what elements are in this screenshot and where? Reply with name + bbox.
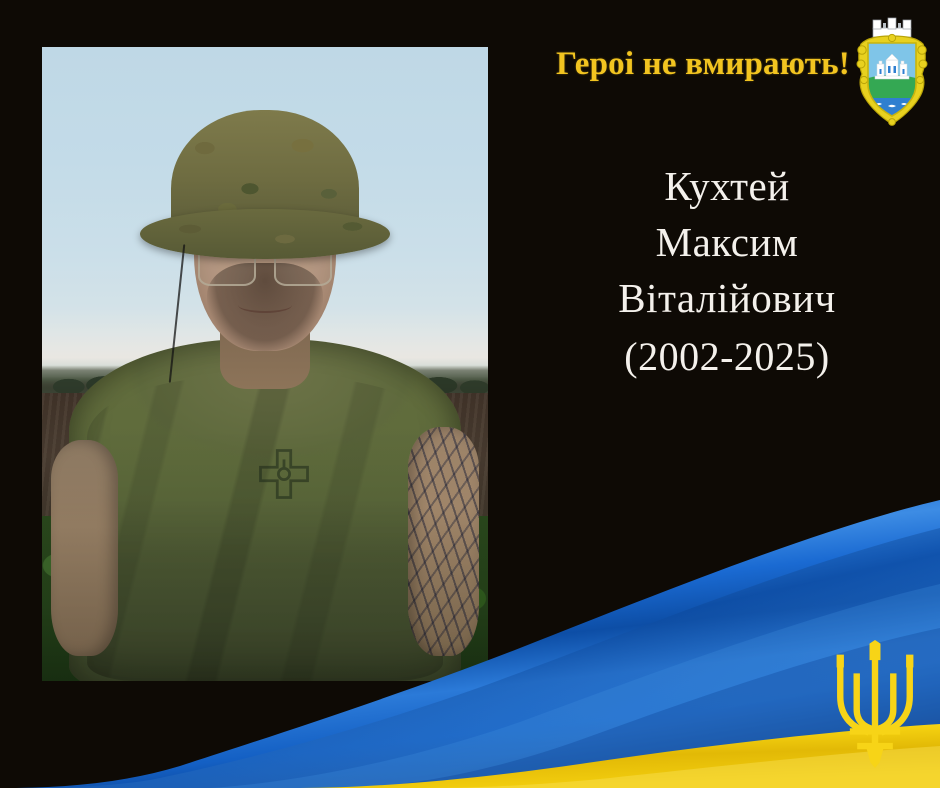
surname: Кухтей [520,158,934,214]
coat-of-arms-icon [855,14,929,132]
soldier-photo [42,47,488,681]
first-name: Максим [520,214,934,270]
patronymic: Віталійович [520,270,934,326]
hat-brim [140,209,390,260]
ukrainian-trident-icon [828,640,922,768]
heroes-slogan: Героі не вмирають! [530,48,850,81]
ukrainian-armed-forces-cross-icon [256,446,312,502]
memorial-poster: Героі не вмирають! [0,0,940,788]
photo-scene [42,47,488,681]
life-dates: (2002-2025) [520,326,934,388]
soldier-right-arm [51,440,118,656]
shirt-folds [87,377,444,681]
memorial-name-block: Кухтей Максим Віталійович (2002-2025) [520,158,934,388]
soldier-tattooed-arm [408,427,479,655]
